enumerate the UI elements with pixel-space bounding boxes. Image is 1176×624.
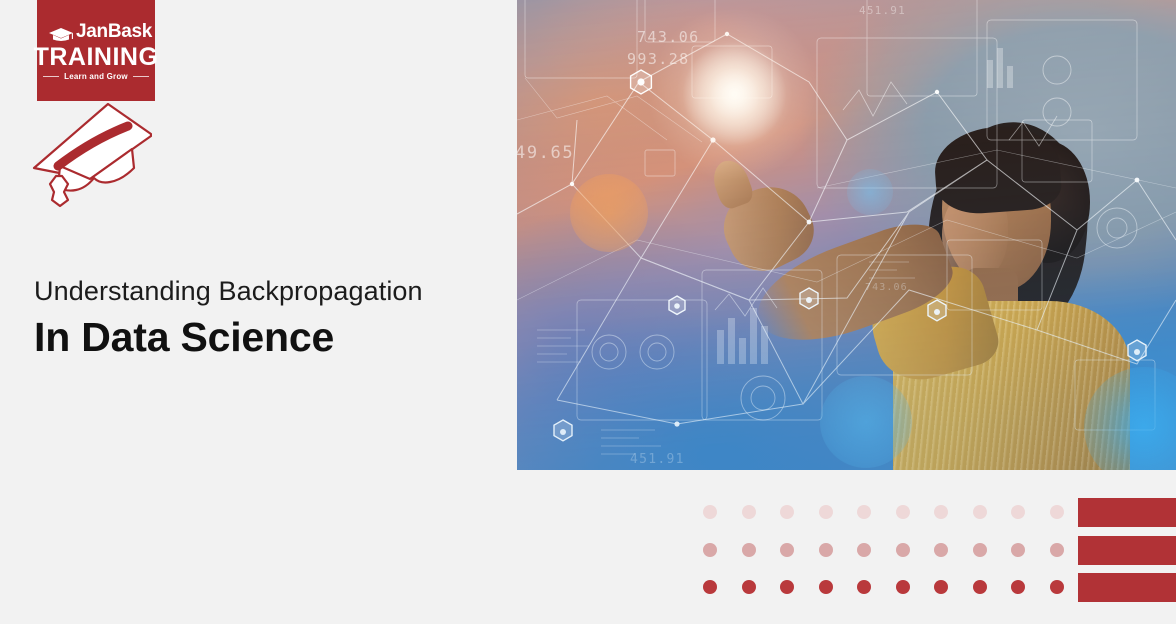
dot <box>819 580 833 594</box>
title-line-2: In Data Science <box>34 312 494 362</box>
dot <box>934 580 948 594</box>
bar <box>1078 498 1176 527</box>
dot <box>896 580 910 594</box>
dot <box>1050 543 1064 557</box>
logo-rule-right <box>133 76 149 78</box>
dot <box>896 505 910 519</box>
logo-rule-left <box>43 76 59 78</box>
dot <box>819 543 833 557</box>
dot <box>742 580 756 594</box>
bar <box>1078 536 1176 565</box>
dot <box>742 505 756 519</box>
dot <box>780 543 794 557</box>
dot <box>857 543 871 557</box>
title-line-1: Understanding Backpropagation <box>34 272 494 310</box>
dot <box>819 505 833 519</box>
hero-color-tint <box>517 0 1176 470</box>
dot <box>703 543 717 557</box>
decorative-dot-grid <box>703 505 1064 618</box>
dot <box>742 543 756 557</box>
logo-brand-primary: JanBask <box>76 20 152 44</box>
dot <box>1011 580 1025 594</box>
logo-tagline: Learn and Grow <box>64 72 128 81</box>
page-title: Understanding Backpropagation In Data Sc… <box>34 272 494 362</box>
dot <box>1011 543 1025 557</box>
bar <box>1078 573 1176 602</box>
graduation-cap-icon <box>30 96 152 208</box>
dot-row <box>703 543 1064 557</box>
dot <box>973 543 987 557</box>
logo-tagline-row: Learn and Grow <box>43 72 149 81</box>
dot <box>973 505 987 519</box>
dot <box>934 505 948 519</box>
dot <box>973 580 987 594</box>
dot-row <box>703 580 1064 594</box>
dot <box>703 580 717 594</box>
dot <box>1011 505 1025 519</box>
dot <box>703 505 717 519</box>
dot <box>857 580 871 594</box>
dot <box>896 543 910 557</box>
dot <box>1050 580 1064 594</box>
dot-row <box>703 505 1064 519</box>
dot <box>780 505 794 519</box>
dot <box>857 505 871 519</box>
banner-canvas: JanBask TRAINING Learn and Grow Understa… <box>0 0 1176 624</box>
logo-wordmark-top: JanBask <box>42 20 150 46</box>
logo-brand-secondary: TRAINING <box>34 44 159 70</box>
dot <box>1050 505 1064 519</box>
decorative-bars <box>1078 498 1176 611</box>
dot <box>780 580 794 594</box>
logo-banner[interactable]: JanBask TRAINING Learn and Grow <box>37 0 155 101</box>
dot <box>934 543 948 557</box>
hero-image: 743.06 993.28 49.65 451.91 743.06 451.91 <box>517 0 1176 470</box>
logo-mark: JanBask TRAINING Learn and Grow <box>37 0 155 101</box>
graduation-cap-small-icon <box>48 27 74 42</box>
